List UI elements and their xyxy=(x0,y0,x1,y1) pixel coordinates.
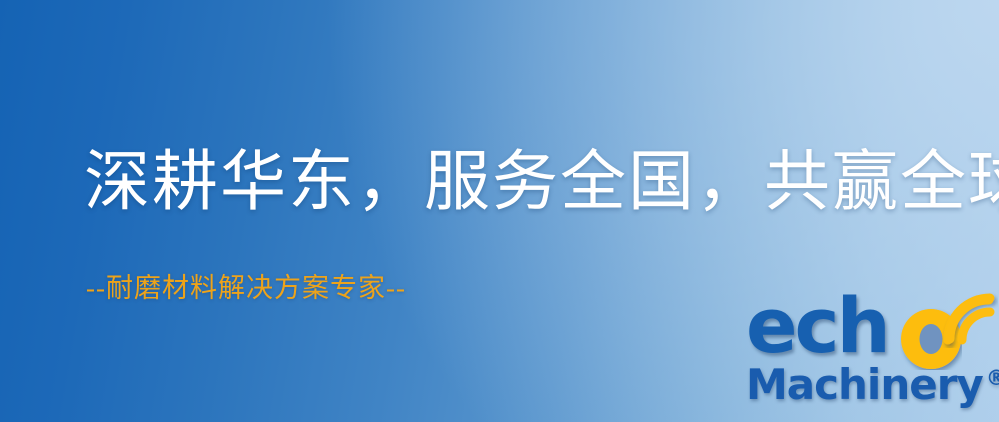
logo-wordmark-ech: ech xyxy=(746,288,888,364)
logo-tagline: Machinery xyxy=(746,360,983,409)
registered-trademark-icon: ® xyxy=(986,366,999,390)
banner-headline: 深耕华东，服务全国，共赢全球 xyxy=(84,148,999,217)
logo-tagline-group: Machinery® xyxy=(746,364,999,406)
hero-banner: 深耕华东，服务全国，共赢全球 --耐磨材料解决方案专家-- ech xyxy=(0,0,999,422)
banner-subtitle: --耐磨材料解决方案专家-- xyxy=(86,266,406,305)
signal-arcs-icon xyxy=(940,290,998,348)
company-logo[interactable]: ech xyxy=(744,296,994,418)
